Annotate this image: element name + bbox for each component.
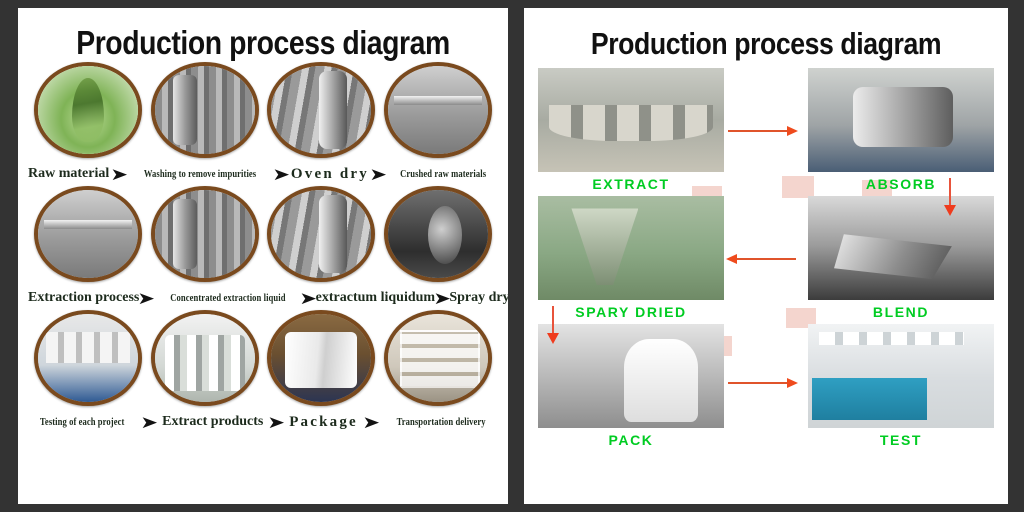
arrow-absorb-to-blend: [949, 178, 951, 206]
photo-pack: [538, 324, 724, 428]
step-image-extract-products: [151, 310, 259, 406]
cell-label: SPARY DRIED: [575, 304, 686, 320]
step-image-concentrated: [151, 186, 259, 282]
cell-label: TEST: [880, 432, 922, 448]
step-label: Raw material: [28, 164, 109, 184]
right-process-panel: Production process diagram EXTRACT ABSOR…: [524, 8, 1008, 504]
left-panel-title: Production process diagram: [52, 24, 473, 62]
process-cell[interactable]: BLEND: [808, 196, 994, 320]
process-cell[interactable]: TEST: [808, 324, 994, 448]
step-label: Testing of each project: [40, 412, 124, 432]
caption-row-3: Testing of each project ➤ Extract produc…: [24, 411, 502, 433]
arrow-extract-to-absorb: [728, 130, 788, 132]
step-label: Washing to remove impurities: [144, 164, 256, 184]
process-step[interactable]: [265, 186, 377, 282]
arrow-right-icon: ➤: [273, 166, 291, 183]
process-row-3: Testing of each project ➤ Extract produc…: [24, 310, 502, 434]
cell-label: ABSORB: [866, 176, 936, 192]
photo-extract: [538, 68, 724, 172]
caption-row-2: Extraction process ➤ Concentrated extrac…: [24, 287, 502, 309]
right-row-extract-absorb: EXTRACT ABSORB: [538, 68, 994, 196]
step-image-extraction: [34, 186, 142, 282]
cell-label: BLEND: [873, 304, 929, 320]
process-step[interactable]: [32, 62, 144, 158]
screenshot-stage: Production process diagram R: [0, 0, 1024, 512]
right-panel-title: Production process diagram: [558, 26, 974, 62]
process-step[interactable]: [149, 186, 261, 282]
step-label: Extraction process: [28, 288, 139, 308]
right-row-pack-test: PACK TEST: [538, 324, 994, 452]
arrow-right-icon: ➤: [362, 414, 380, 431]
step-label: Transportation delivery: [396, 412, 485, 432]
step-label: Concentrated extraction liquid: [170, 288, 285, 308]
arrow-right-icon: ➤: [433, 290, 451, 307]
step-label: Crushed raw materials: [400, 164, 486, 184]
arrow-pack-to-test: [728, 382, 788, 384]
arrow-right-icon: ➤: [138, 290, 156, 307]
step-image-crushed: [384, 62, 492, 158]
photo-blend: [808, 196, 994, 300]
cell-label: EXTRACT: [592, 176, 669, 192]
step-image-washing: [151, 62, 259, 158]
right-row-spray-blend: SPARY DRIED BLEND: [538, 196, 994, 324]
photo-absorb: [808, 68, 994, 172]
process-step[interactable]: [32, 310, 144, 406]
arrow-right-icon: ➤: [369, 166, 387, 183]
cell-label: PACK: [608, 432, 653, 448]
process-step[interactable]: [149, 62, 261, 158]
arrow-spray-to-pack: [552, 306, 554, 334]
process-step[interactable]: [265, 310, 377, 406]
process-step[interactable]: [382, 310, 494, 406]
process-step[interactable]: [149, 310, 261, 406]
step-image-raw-material: [34, 62, 142, 158]
step-label: Oven dry: [291, 164, 369, 184]
process-cell[interactable]: EXTRACT: [538, 68, 724, 192]
process-cell[interactable]: SPARY DRIED: [538, 196, 724, 320]
arrow-right-icon: ➤: [267, 414, 285, 431]
left-process-panel: Production process diagram R: [18, 8, 508, 504]
process-step[interactable]: [32, 186, 144, 282]
step-image-package: [267, 310, 375, 406]
right-process-grid: EXTRACT ABSORB SPARY DRIED BLEND: [524, 68, 1008, 452]
step-image-spray-drying: [384, 186, 492, 282]
caption-row-1: Raw material ➤ Washing to remove impurit…: [24, 163, 502, 185]
step-label: extractum liquidum: [316, 288, 435, 308]
arrow-right-icon: ➤: [110, 166, 128, 183]
process-cell[interactable]: ABSORB: [808, 68, 994, 192]
arrow-right-icon: ➤: [140, 414, 158, 431]
process-step[interactable]: [382, 62, 494, 158]
process-row-2: Extraction process ➤ Concentrated extrac…: [24, 186, 502, 310]
arrow-right-icon: ➤: [300, 290, 318, 307]
step-image-transportation: [384, 310, 492, 406]
photo-test: [808, 324, 994, 428]
process-step[interactable]: [265, 62, 377, 158]
step-image-testing: [34, 310, 142, 406]
process-step[interactable]: [382, 186, 494, 282]
step-label: Package: [289, 412, 358, 432]
process-row-1: Raw material ➤ Washing to remove impurit…: [24, 62, 502, 186]
step-label: Spray drying: [449, 288, 508, 308]
photo-spray-dried: [538, 196, 724, 300]
step-image-extractum: [267, 186, 375, 282]
step-label: Extract products: [162, 412, 263, 432]
step-image-oven-dry: [267, 62, 375, 158]
arrow-blend-to-spray: [736, 258, 796, 260]
process-cell[interactable]: PACK: [538, 324, 724, 448]
